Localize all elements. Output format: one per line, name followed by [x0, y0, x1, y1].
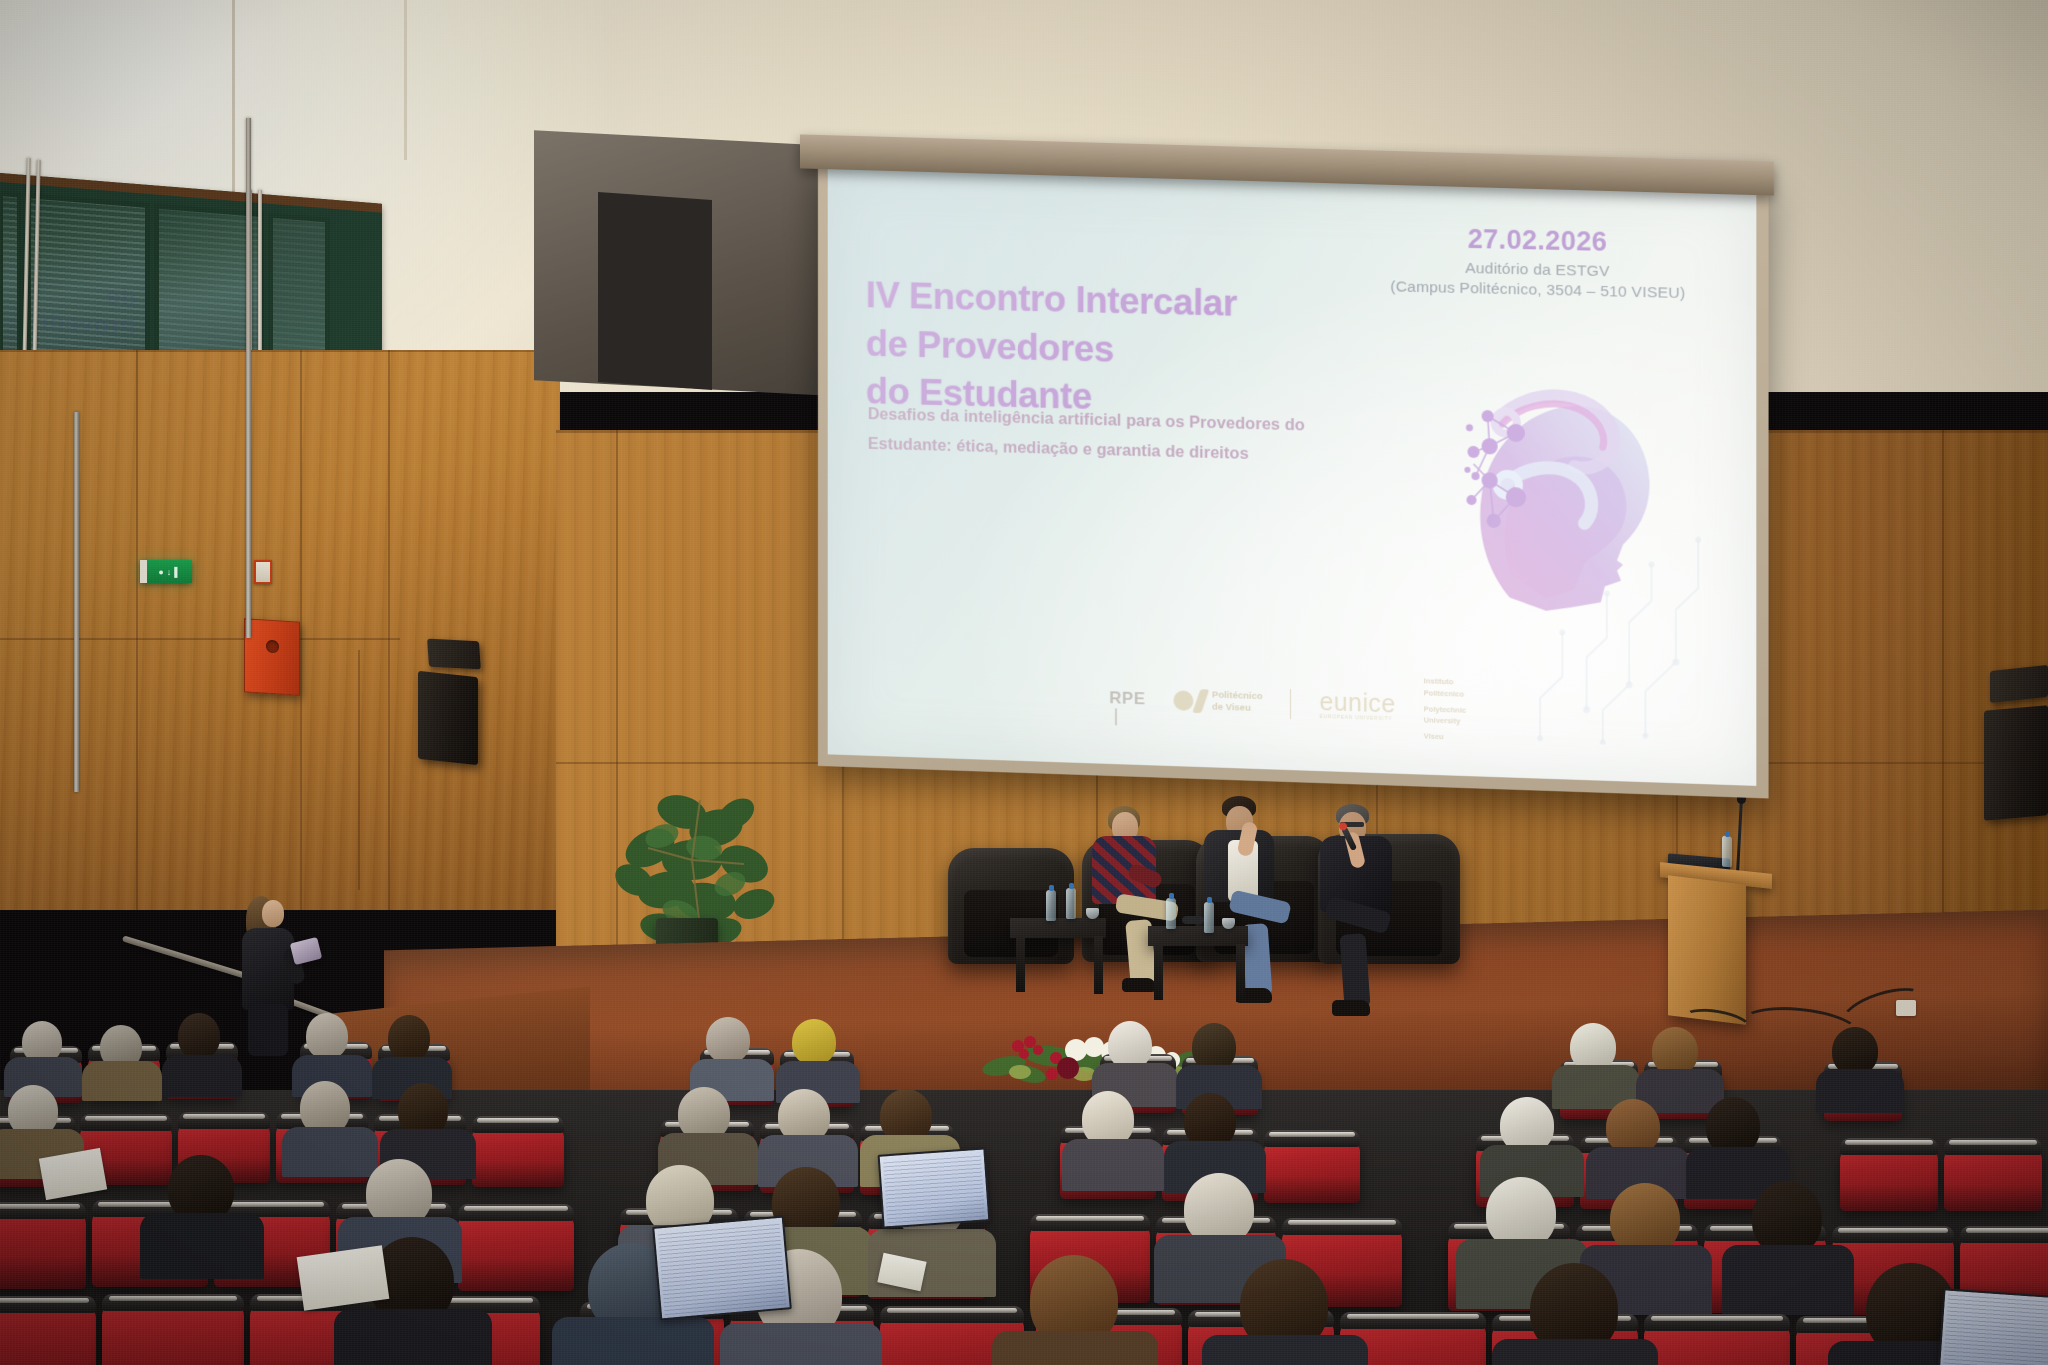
potted-plant-foliage [604, 752, 784, 942]
water-bottle[interactable] [1204, 902, 1214, 933]
tablet-device[interactable] [290, 937, 322, 965]
seat [1944, 1147, 2042, 1211]
wall-speaker-right-top [1990, 665, 2048, 703]
seat [458, 1213, 574, 1291]
seat [102, 1303, 244, 1365]
low-table-right [1148, 926, 1248, 946]
politecnico-de-viseu-logo: Politécnico de Viseu [1173, 688, 1262, 715]
attendee-laptop[interactable] [652, 1215, 792, 1320]
water-bottle[interactable] [1046, 890, 1056, 921]
seat [1644, 1323, 1790, 1365]
slide-address: (Campus Politécnico, 3504 – 510 VISEU) [1390, 278, 1685, 303]
instituto-politecnico-viseu-logo: Instituto Politécnico Polytechnic Univer… [1424, 676, 1466, 744]
ipv-logo-text: Instituto Politécnico Polytechnic Univer… [1424, 676, 1466, 744]
seat [1264, 1139, 1360, 1203]
exit-running-man-icon: ● [158, 567, 163, 577]
wall-pipe [74, 412, 79, 792]
projection-screen: 27.02.2026 Auditório da ESTGV (Campus Po… [818, 159, 1769, 799]
politecnico-logo-text: Politécnico de Viseu [1212, 690, 1262, 716]
water-bottle[interactable] [1066, 888, 1076, 919]
table-microphone[interactable] [1182, 916, 1204, 924]
lectern-water-bottle[interactable] [1722, 836, 1732, 868]
stair-handrail[interactable] [122, 935, 246, 978]
window-slide-reflection: de Provedores [40, 276, 136, 357]
printed-paper[interactable] [39, 1148, 107, 1200]
exit-arrow-icon: ↓ [167, 567, 172, 577]
exit-door-icon: ▌ [174, 567, 180, 577]
wall-speaker-right [1984, 705, 2048, 821]
eunice-logo-text: eunice EUROPEAN UNIVERSITY [1319, 691, 1395, 723]
seat [0, 1305, 96, 1365]
water-bottle[interactable] [1166, 898, 1176, 929]
low-table-left [1010, 918, 1106, 938]
rpe-logo-text: RPE [1109, 689, 1145, 710]
slide-date-block: 27.02.2026 Auditório da ESTGV (Campus Po… [1390, 222, 1685, 303]
slide-date: 27.02.2026 [1390, 222, 1685, 260]
lectern [1668, 875, 1746, 1025]
politecnico-mark-icon [1173, 689, 1205, 714]
attendee-laptop[interactable] [1937, 1288, 2048, 1365]
wall-pipe [246, 118, 251, 638]
slide-subtitle: Desafios da inteligência artificial para… [868, 400, 1347, 471]
fire-hose-cabinet[interactable] [244, 618, 300, 695]
wall-speaker-left-top [427, 639, 481, 670]
eunice-logo: eunice EUROPEAN UNIVERSITY [1319, 691, 1395, 723]
fire-alarm-call-point[interactable] [254, 560, 272, 584]
screen-recess-dark [598, 192, 712, 390]
rpe-logo: RPE [1109, 689, 1145, 710]
wall-seam [404, 0, 407, 160]
wall-speaker-left [418, 671, 478, 765]
audience-seating [0, 1005, 2048, 1365]
seat [1840, 1147, 1938, 1211]
emergency-exit-sign: ● ↓ ▌ [140, 560, 192, 583]
attendee-laptop[interactable] [878, 1147, 991, 1228]
slide-title-line-1: IV Encontro Intercalar [866, 271, 1237, 328]
seat [472, 1125, 564, 1187]
logo-divider [1290, 689, 1291, 719]
auditorium-photo: de Provedores 27.02.2026 Auditório [0, 0, 2048, 1365]
presentation-slide: 27.02.2026 Auditório da ESTGV (Campus Po… [828, 168, 1757, 786]
seat [0, 1211, 86, 1289]
